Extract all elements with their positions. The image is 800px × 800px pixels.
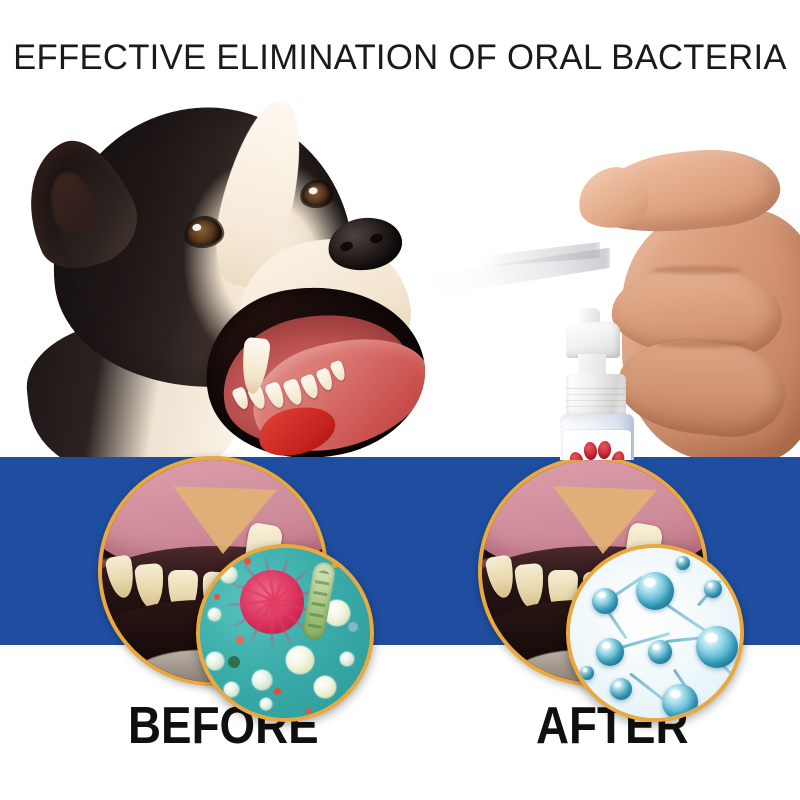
pump-actuator[interactable]	[566, 322, 620, 358]
product-bottle[interactable]: Oral Spray FOR PETS	[552, 308, 648, 460]
paw-toe-pad	[610, 450, 627, 460]
microbe	[224, 682, 239, 697]
microbe	[286, 646, 314, 674]
microbe	[220, 566, 237, 583]
paw-print-icon	[569, 436, 625, 460]
paw-toe-pad	[568, 450, 586, 460]
dog-photo	[10, 90, 430, 460]
molecule-atom	[648, 640, 672, 664]
microbe-dot	[210, 698, 219, 707]
before-pointer	[171, 486, 277, 556]
microbe	[208, 608, 221, 621]
before-after-comparison	[0, 440, 800, 740]
virus-icon	[240, 570, 304, 634]
molecule-atom	[704, 580, 722, 598]
microbe	[346, 688, 362, 704]
molecule-atom	[662, 684, 698, 720]
microbe-dot	[274, 688, 281, 695]
eye-glint	[192, 223, 202, 231]
molecule-atom	[610, 678, 632, 700]
molecule-atom	[636, 572, 674, 610]
microbe	[252, 670, 272, 690]
microbe-dot	[236, 636, 244, 644]
bottle-collar	[566, 374, 626, 418]
microbe	[260, 698, 272, 710]
knuckle-crease	[656, 340, 748, 348]
molecule-atom	[676, 556, 690, 570]
microbe-dot	[306, 708, 312, 714]
microbe-dot	[244, 558, 251, 565]
molecule-atom	[580, 666, 594, 680]
molecule-atom	[720, 682, 740, 702]
microbe-dot	[348, 622, 358, 632]
eye-glint	[308, 187, 318, 195]
knuckle-crease	[652, 266, 742, 274]
microbe	[314, 676, 336, 698]
molecule-atom	[592, 588, 618, 614]
product-banner: EFFECTIVE ELIMINATION OF ORAL BACTERIA	[0, 0, 800, 800]
hero-photo: Oral Spray FOR PETS	[0, 90, 800, 460]
tooth	[329, 360, 348, 383]
page-title: EFFECTIVE ELIMINATION OF ORAL BACTERIA	[4, 36, 796, 80]
microbe-dot	[228, 656, 240, 668]
molecule-atom	[596, 638, 624, 666]
microbe	[206, 652, 224, 670]
microbe-dot	[214, 594, 220, 600]
molecule-atom	[696, 626, 738, 668]
molecule-inset	[566, 544, 744, 722]
microbe	[340, 652, 354, 666]
product-label: Oral Spray FOR PETS	[563, 430, 631, 460]
paw-toe-pad	[597, 440, 612, 459]
bacteria-inset	[196, 544, 374, 722]
paw-toe-pad	[583, 441, 598, 460]
